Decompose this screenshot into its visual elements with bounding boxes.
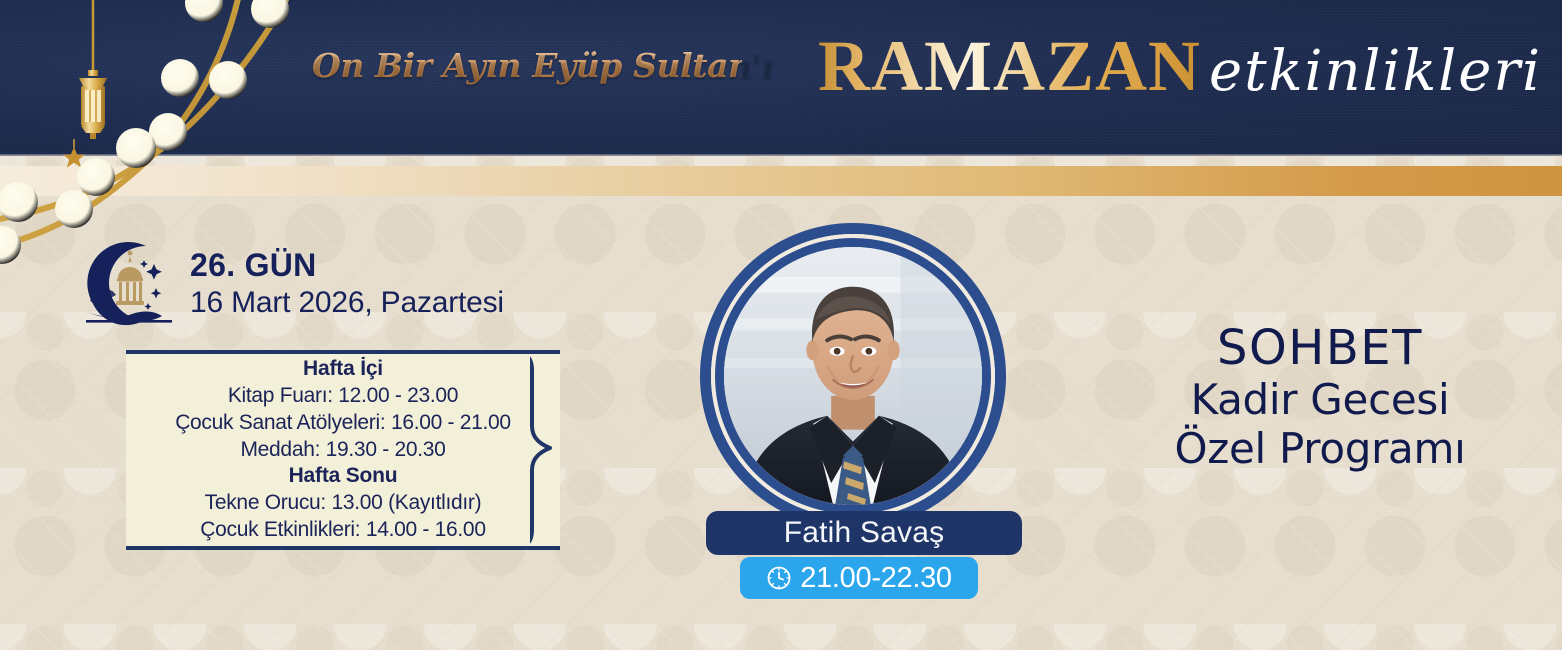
event-category: SOHBET [1100, 322, 1540, 375]
brand-script-title: etkinlikleri [1209, 44, 1542, 100]
light-bulb [209, 61, 247, 99]
schedule-content: Hafta İçi Kitap Fuarı: 12.00 - 23.00 Çoc… [112, 344, 574, 556]
light-bulb [185, 0, 223, 22]
weekend-heading: Hafta Sonu [289, 463, 398, 490]
clock-icon [766, 565, 792, 591]
crescent-moon-mosque-icon [84, 240, 176, 326]
day-date: 16 Mart 2026, Pazartesi [190, 285, 504, 321]
speaker-name-plate: Fatih Savaş [706, 511, 1022, 555]
schedule-card: Hafta İçi Kitap Fuarı: 12.00 - 23.00 Çoc… [112, 344, 574, 556]
light-bulb [251, 0, 289, 28]
slogan-title: On Bir Ayın Eyüp Sultan'ı [312, 46, 742, 85]
weekday-heading: Hafta İçi [303, 356, 383, 383]
brand-title-group: RAMAZAN etkinlikleri [818, 32, 1542, 100]
weekend-item: Tekne Orucu: 13.00 (Kayıtlıdır) [205, 490, 482, 517]
ramadan-events-banner: On Bir Ayın Eyüp Sultan'ı RAMAZAN etkinl… [0, 0, 1562, 650]
light-bulb [161, 59, 199, 97]
hanging-lantern-icon [79, 70, 107, 139]
event-title-block: SOHBET Kadir Gecesi Özel Programı [1100, 322, 1540, 474]
speaker-photo [724, 247, 982, 505]
day-number: 26. GÜN [190, 247, 504, 285]
speaker-portrait [700, 223, 1006, 529]
light-bulb [0, 226, 21, 264]
light-bulb [116, 128, 156, 168]
weekday-item: Çocuk Sanat Atölyeleri: 16.00 - 21.00 [175, 410, 511, 437]
light-bulb [77, 158, 115, 196]
light-bulb [0, 182, 38, 222]
weekend-item: Çocuk Etkinlikleri: 14.00 - 16.00 [200, 517, 485, 544]
event-title-line1: Kadir Gecesi [1100, 375, 1540, 425]
day-date-block: 26. GÜN 16 Mart 2026, Pazartesi [84, 240, 504, 326]
weekday-item: Kitap Fuarı: 12.00 - 23.00 [228, 383, 458, 410]
speaker-time-plate: 21.00-22.30 [740, 557, 978, 599]
speaker-time: 21.00-22.30 [800, 562, 952, 595]
weekday-item: Meddah: 19.30 - 20.30 [240, 437, 445, 464]
event-title-line2: Özel Programı [1100, 424, 1540, 474]
brand-main-title: RAMAZAN [818, 32, 1201, 100]
light-bulb [55, 190, 93, 228]
day-text-group: 26. GÜN 16 Mart 2026, Pazartesi [190, 245, 504, 321]
speaker-name: Fatih Savaş [784, 516, 945, 550]
